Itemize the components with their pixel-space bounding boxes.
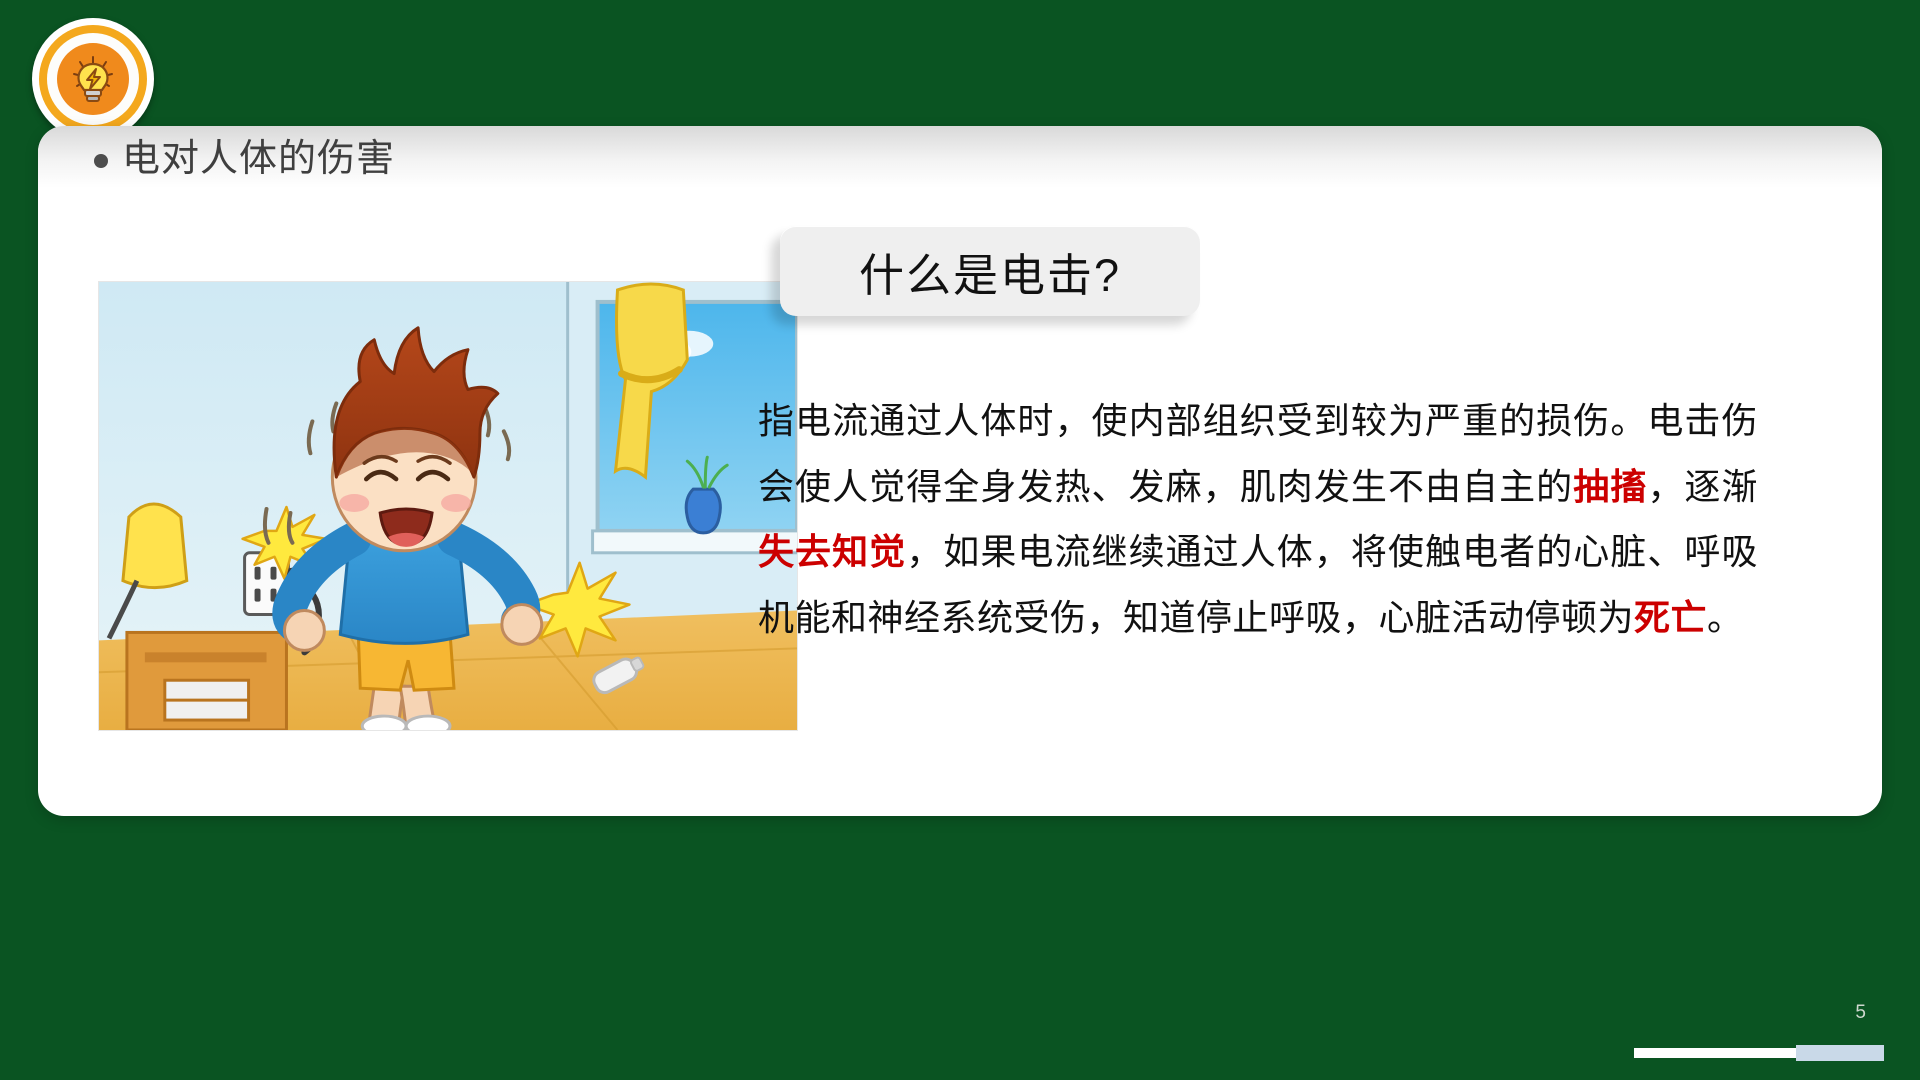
- slide-heading: 电对人体的伤害: [94, 140, 395, 178]
- content-card: 电对人体的伤害: [38, 126, 1882, 816]
- progress-fill[interactable]: [1796, 1045, 1884, 1061]
- body-highlight-5: 死亡: [1634, 597, 1707, 638]
- right-column: 什么是电击? 指电流通过人体时，使内部组织受到较为严重的损伤。电击伤会使人觉得全…: [758, 226, 1838, 650]
- body-paragraph: 指电流通过人体时，使内部组织受到较为严重的损伤。电击伤会使人觉得全身发热、发麻，…: [758, 388, 1758, 650]
- logo-badge: [32, 18, 154, 140]
- lightbulb-lightning-icon: [57, 43, 129, 115]
- question-title-badge: 什么是电击?: [780, 226, 1200, 316]
- bullet-icon: [94, 154, 108, 168]
- body-highlight-3: 失去知觉: [758, 531, 906, 572]
- question-title-text: 什么是电击?: [859, 239, 1121, 304]
- body-text-4: ，如果电流继续通过人体，将使触电者的心脏、呼吸机能和神经系统受伤，知道停止呼吸，…: [758, 531, 1758, 638]
- presentation-slide: 电对人体的伤害: [0, 0, 1920, 1080]
- logo-ring-outer: [39, 25, 147, 133]
- illustration-container: [98, 281, 798, 731]
- boy-electric-shock-illustration: [98, 281, 798, 731]
- body-text-6: 。: [1707, 597, 1744, 638]
- page-number: 5: [1855, 1002, 1866, 1024]
- logo-ring-inner: [47, 33, 139, 125]
- body-text-2: ，逐渐: [1647, 466, 1758, 507]
- body-highlight-1: 抽搐: [1573, 466, 1647, 507]
- slide-heading-label: 电对人体的伤害: [122, 140, 395, 178]
